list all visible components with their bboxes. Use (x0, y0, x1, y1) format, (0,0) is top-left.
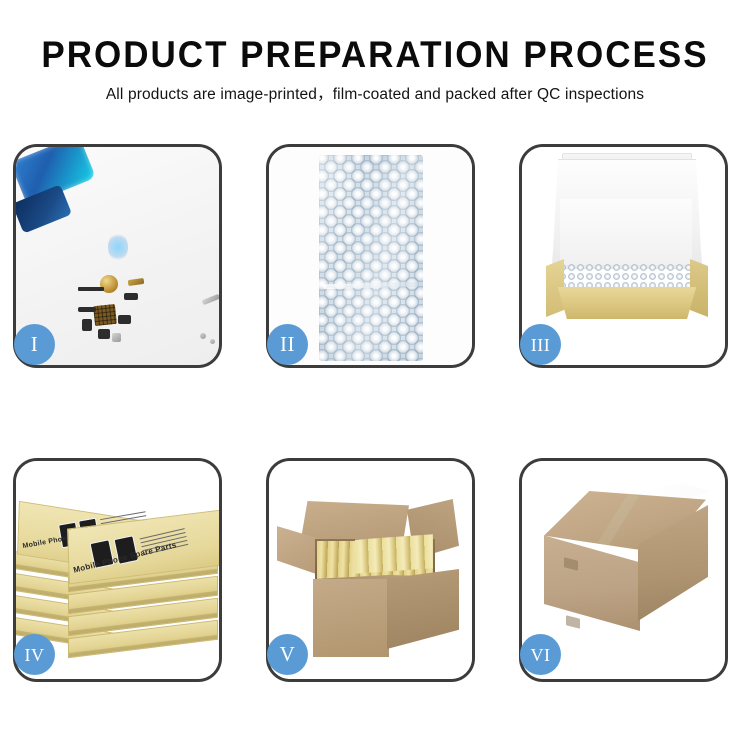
page-title: PRODUCT PREPARATION PROCESS (0, 34, 750, 76)
button-part-icon (124, 293, 138, 300)
flex-cable-part-icon (78, 307, 96, 312)
packed-retail-boxes-icon (355, 534, 433, 573)
step-badge-4: IV (14, 634, 55, 675)
step-badge-6: VI (520, 634, 561, 675)
connector-grid-part-icon (93, 304, 117, 326)
page-header: PRODUCT PREPARATION PROCESS All products… (0, 34, 750, 104)
step-badge-1: I (14, 324, 55, 365)
speaker-part-icon (98, 329, 110, 339)
page-subtitle: All products are image-printed，film-coat… (0, 85, 750, 104)
ribbon-part-icon (78, 287, 104, 291)
bubble-wrap-pouch-icon (319, 155, 423, 361)
small-ic-part-icon (82, 319, 92, 331)
product-preparation-process-page: PRODUCT PREPARATION PROCESS All products… (0, 0, 750, 750)
metal-bracket-part-icon (112, 333, 121, 342)
screw-part-icon (210, 339, 215, 344)
bubble-wrapped-contents-icon (558, 263, 696, 291)
camera-part-icon (118, 315, 131, 324)
screw-part-icon (200, 333, 206, 339)
kraft-box-front-icon (550, 287, 704, 319)
process-step-grid: Mobile Phone Spare Parts Mobile Phone Sp… (13, 144, 737, 688)
carton-front-face-icon (313, 579, 389, 657)
foam-sheet-icon (560, 199, 692, 265)
step-badge-3: III (520, 324, 561, 365)
plastic-sheen (319, 155, 423, 361)
step-badge-5: V (267, 634, 308, 675)
step-badge-2: II (267, 324, 308, 365)
